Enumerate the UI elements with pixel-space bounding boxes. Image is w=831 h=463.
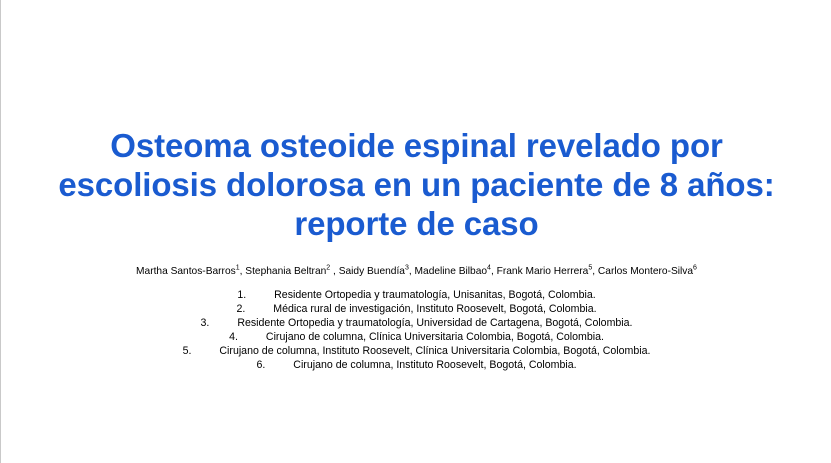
author-name: Saidy Buendía	[339, 266, 405, 277]
author-name: Martha Santos-Barros	[136, 266, 236, 277]
affiliation-item: 5.Cirujano de columna, Instituto Rooseve…	[1, 344, 831, 358]
affiliation-item: 4.Cirujano de columna, Clínica Universit…	[1, 330, 831, 344]
title-line-2: escoliosis dolorosa en un paciente de 8 …	[1, 165, 831, 204]
affiliation-number: 5.	[183, 344, 192, 358]
slide-title: Osteoma osteoide espinal revelado por es…	[1, 126, 831, 243]
affiliation-list: 1.Residente Ortopedia y traumatología, U…	[1, 288, 831, 372]
title-line-1: Osteoma osteoide espinal revelado por	[1, 126, 831, 165]
affiliation-number: 3.	[201, 316, 210, 330]
affiliation-text: Médica rural de investigación, Instituto…	[273, 302, 596, 316]
author-line: Martha Santos-Barros1, Stephania Beltran…	[136, 265, 697, 278]
affiliation-item: 3.Residente Ortopedia y traumatología, U…	[1, 316, 831, 330]
title-line-3: reporte de caso	[1, 204, 831, 243]
author-list: Martha Santos-Barros1, Stephania Beltran…	[1, 261, 831, 279]
author-name: Madeline Bilbao	[415, 266, 488, 277]
affiliation-text: Cirujano de columna, Clínica Universitar…	[266, 330, 604, 344]
affiliation-text: Residente Ortopedia y traumatología, Uni…	[237, 316, 632, 330]
affiliation-item: 1.Residente Ortopedia y traumatología, U…	[1, 288, 831, 302]
author-separator: ,	[330, 266, 339, 277]
affiliation-item: 2.Médica rural de investigación, Institu…	[1, 302, 831, 316]
affiliation-number: 6.	[256, 358, 265, 372]
author-name: Carlos Montero-Silva	[598, 266, 693, 277]
affiliation-item: 6.Cirujano de columna, Instituto Rooseve…	[1, 358, 831, 372]
author-affiliation-marker: 6	[693, 265, 697, 272]
affiliation-number: 4.	[229, 330, 238, 344]
affiliation-number: 1.	[237, 288, 246, 302]
affiliation-text: Cirujano de columna, Instituto Roosevelt…	[219, 344, 650, 358]
presentation-slide: Osteoma osteoide espinal revelado por es…	[0, 0, 831, 463]
affiliation-text: Cirujano de columna, Instituto Roosevelt…	[293, 358, 576, 372]
affiliation-text: Residente Ortopedia y traumatología, Uni…	[274, 288, 596, 302]
author-name: Stephania Beltran	[245, 266, 326, 277]
author-name: Frank Mario Herrera	[497, 266, 589, 277]
affiliation-number: 2.	[236, 302, 245, 316]
